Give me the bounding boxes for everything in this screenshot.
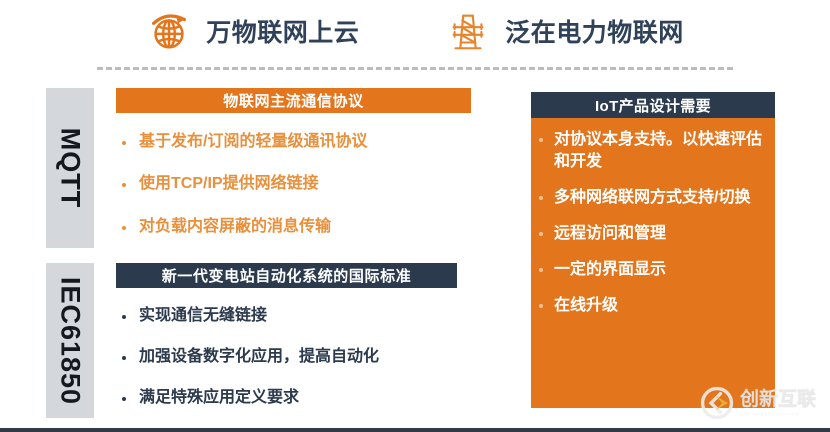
list-item: 使用TCP/IP提供网络链接 [116,174,476,194]
protocol-body-mqtt: 物联网主流通信协议 基于发布/订阅的轻量级通讯协议 使用TCP/IP提供网络链接… [94,88,476,248]
bullet-text: 多种网络联网方式支持/切换 [554,187,750,209]
list-item: 加强设备数字化应用，提高自动化 [116,347,476,367]
protocol-bullets-mqtt: 基于发布/订阅的轻量级通讯协议 使用TCP/IP提供网络链接 对负载内容屏蔽的消… [116,121,476,248]
protocol-bar-mqtt: 物联网主流通信协议 [116,88,471,113]
list-item: 基于发布/订阅的轻量级通讯协议 [116,132,476,152]
protocol-column: MQTT 物联网主流通信协议 基于发布/订阅的轻量级通讯协议 使用TCP/IP提… [46,88,476,418]
list-item: 实现通信无缝链接 [116,306,476,326]
header-divider [97,67,733,70]
watermark-subtext: CHUANGXIN HULIAN [740,412,816,416]
protocol-bullets-iec61850: 实现通信无缝链接 加强设备数字化应用，提高自动化 满足特殊应用定义要求 [116,296,476,418]
panel-bullet-list: 对协议本身支持。以快速评估和开发 多种网络联网方式支持/切换 远程访问和管理 一… [531,118,775,317]
bullet-text: 一定的界面显示 [554,259,666,281]
list-item: 满足特殊应用定义要求 [116,388,476,408]
list-item: 远程访问和管理 [539,223,765,245]
bullet-dot-icon [539,232,543,236]
bullet-dot-icon [122,315,126,319]
protocol-tab-iec61850[interactable]: IEC61850 [46,263,94,418]
cx-logo-icon [700,386,734,420]
list-item: 在线升级 [539,295,765,317]
bullet-text: 基于发布/订阅的轻量级通讯协议 [139,132,367,152]
header-title: 泛在电力物联网 [505,13,684,49]
list-item: 对协议本身支持。以快速评估和开发 [539,129,765,173]
list-item: 一定的界面显示 [539,259,765,281]
bullet-text: 远程访问和管理 [554,223,666,245]
protocol-tab-label: IEC61850 [55,276,86,404]
bullet-text: 满足特殊应用定义要求 [139,388,299,408]
header-item-iot-cloud: 万物联网上云 [146,8,359,54]
panel-header-title: IoT产品设计需要 [531,92,775,118]
bullet-dot-icon [539,304,543,308]
watermark-text: 创新互联 [740,390,816,409]
iot-requirements-panel: IoT产品设计需要 对协议本身支持。以快速评估和开发 多种网络联网方式支持/切换… [531,92,775,408]
power-tower-icon [445,8,491,54]
bullet-dot-icon [122,141,126,145]
list-item: 对负载内容屏蔽的消息传输 [116,217,476,237]
bullet-text: 实现通信无缝链接 [139,306,267,326]
bullet-text: 在线升级 [554,295,618,317]
bullet-dot-icon [122,356,126,360]
bullet-dot-icon [122,183,126,187]
bullet-dot-icon [539,268,543,272]
globe-cloud-icon [146,8,192,54]
bullet-text: 对负载内容屏蔽的消息传输 [139,217,331,237]
bullet-text: 加强设备数字化应用，提高自动化 [139,347,379,367]
protocol-body-iec61850: 新一代变电站自动化系统的国际标准 实现通信无缝链接 加强设备数字化应用，提高自动… [94,263,476,418]
protocol-block-iec61850: IEC61850 新一代变电站自动化系统的国际标准 实现通信无缝链接 加强设备数… [46,263,476,418]
list-item: 多种网络联网方式支持/切换 [539,187,765,209]
header-item-power-iot: 泛在电力物联网 [445,8,684,54]
slide-header: 万物联网上云 [0,0,830,62]
protocol-bar-iec61850: 新一代变电站自动化系统的国际标准 [116,263,457,288]
bullet-text: 对协议本身支持。以快速评估和开发 [554,129,765,173]
header-title: 万物联网上云 [206,13,359,49]
watermark: 创新互联 CHUANGXIN HULIAN [700,382,822,424]
bullet-dot-icon [539,196,543,200]
bullet-text: 使用TCP/IP提供网络链接 [139,174,319,194]
protocol-tab-mqtt[interactable]: MQTT [46,88,94,248]
watermark-text-group: 创新互联 CHUANGXIN HULIAN [740,390,816,416]
protocol-tab-label: MQTT [55,128,86,208]
bullet-dot-icon [122,397,126,401]
bullet-dot-icon [539,138,543,142]
bullet-dot-icon [122,226,126,230]
slide-canvas: 万物联网上云 [0,0,830,432]
protocol-block-mqtt: MQTT 物联网主流通信协议 基于发布/订阅的轻量级通讯协议 使用TCP/IP提… [46,88,476,248]
